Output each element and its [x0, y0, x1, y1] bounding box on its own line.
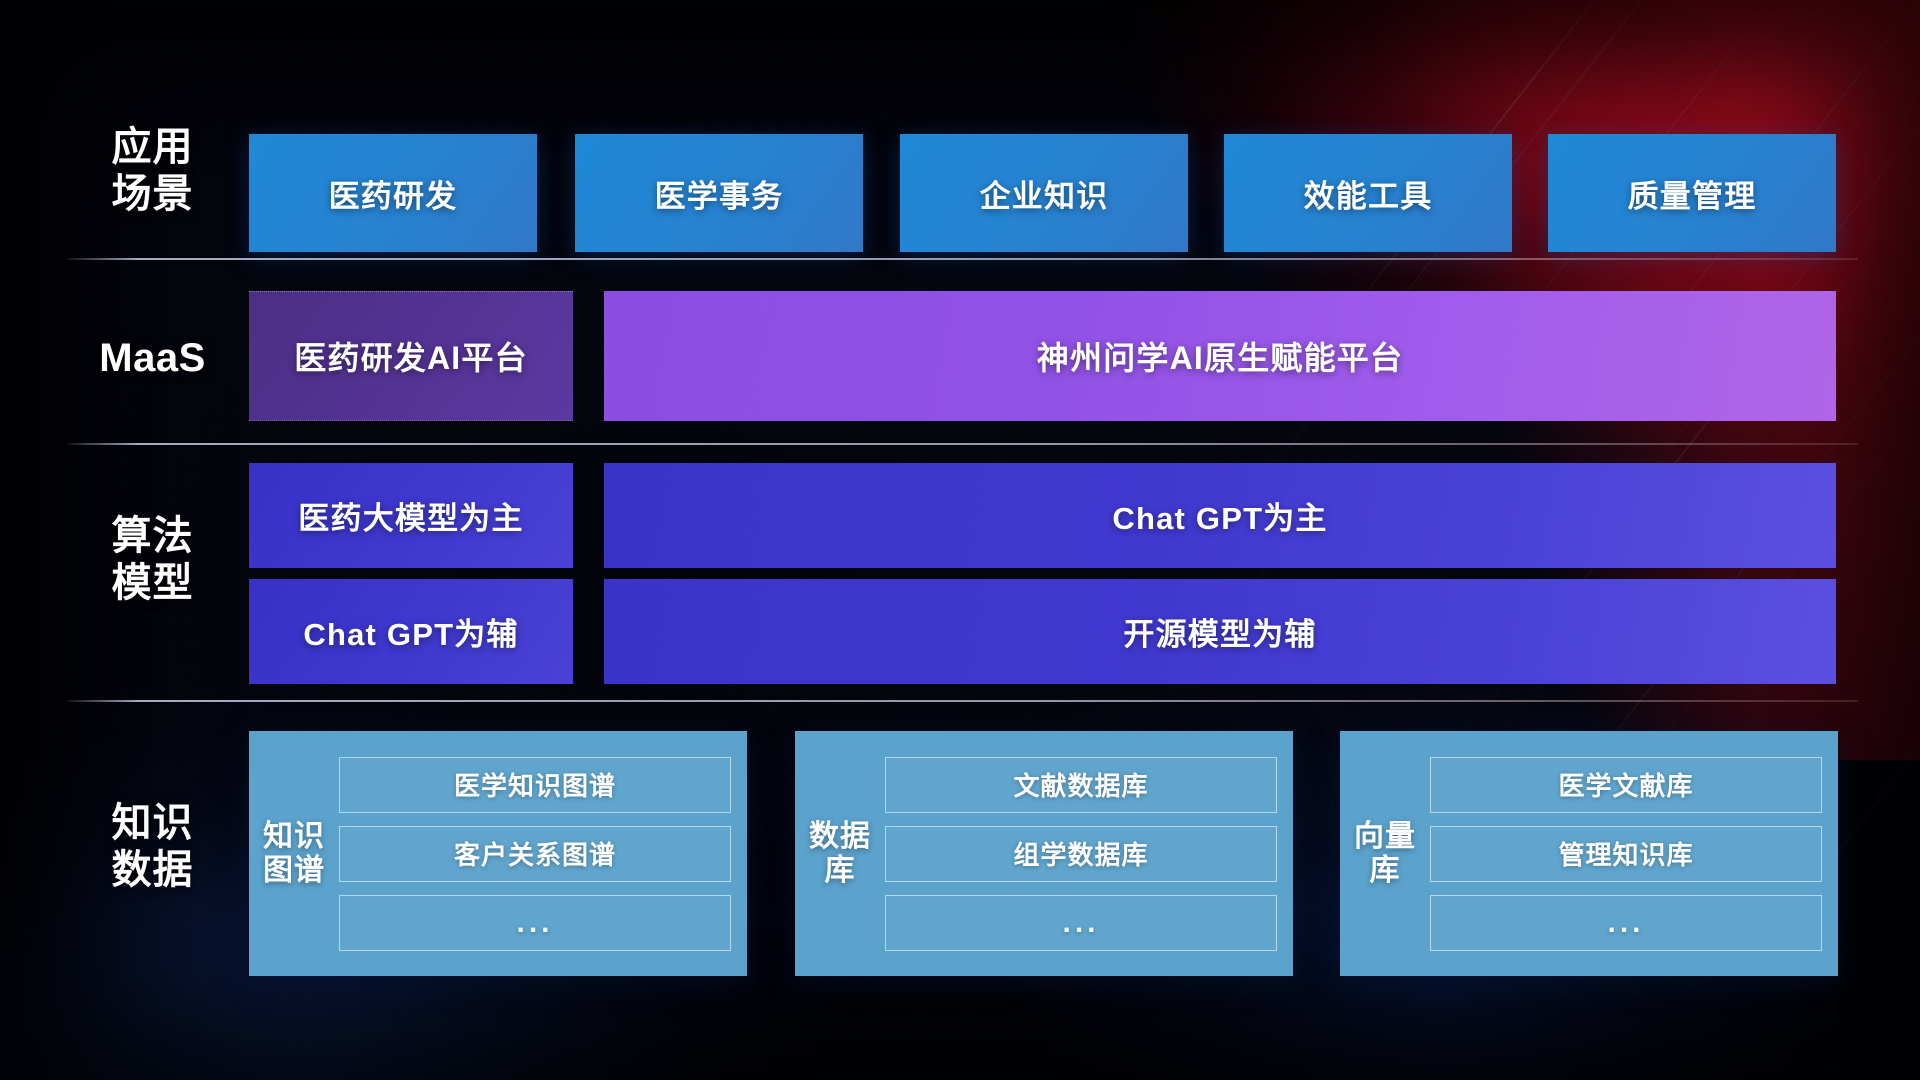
- app-box-label: 企业知识: [980, 171, 1109, 216]
- algo-box-opensource-secondary[interactable]: 开源模型为辅: [604, 579, 1836, 684]
- divider-maas-algorithm: [68, 443, 1858, 445]
- layer-label-application-line1: 应用: [60, 124, 245, 171]
- layer-label-knowledge-line2: 数据: [60, 847, 245, 894]
- algo-box-chatgpt-secondary[interactable]: Chat GPT为辅: [249, 579, 573, 684]
- divider-application-maas: [68, 258, 1858, 260]
- knowledge-item[interactable]: 管理知识库: [1430, 826, 1822, 882]
- algo-box-label: 开源模型为辅: [1123, 609, 1316, 654]
- maas-box-label: 医药研发AI平台: [294, 333, 528, 379]
- algo-box-chatgpt-primary[interactable]: Chat GPT为主: [604, 463, 1836, 568]
- algo-box-label: Chat GPT为主: [1112, 493, 1327, 538]
- knowledge-item-list: 文献数据库 组学数据库 ...: [885, 745, 1277, 962]
- layer-label-application-line2: 场景: [60, 171, 245, 218]
- knowledge-item-more[interactable]: ...: [339, 895, 731, 951]
- layer-label-algorithm-line2: 模型: [60, 560, 245, 607]
- app-box-label: 质量管理: [1628, 171, 1757, 216]
- app-box-medical-affairs[interactable]: 医学事务: [575, 134, 863, 252]
- architecture-diagram: 应用 场景 医药研发 医学事务 企业知识 效能工具 质量管理 MaaS 医药研发…: [0, 0, 1920, 1080]
- layer-label-knowledge-line1: 知识: [60, 800, 245, 847]
- layer-label-algorithm: 算法 模型: [60, 513, 245, 607]
- app-box-quality-management[interactable]: 质量管理: [1548, 134, 1836, 252]
- layer-label-algorithm-line1: 算法: [60, 513, 245, 560]
- maas-box-pharma-ai-platform[interactable]: 医药研发AI平台: [249, 291, 573, 421]
- layer-label-knowledge: 知识 数据: [60, 800, 245, 894]
- knowledge-item-more[interactable]: ...: [885, 895, 1277, 951]
- app-box-enterprise-knowledge[interactable]: 企业知识: [900, 134, 1188, 252]
- knowledge-item[interactable]: 医学知识图谱: [339, 757, 731, 813]
- layer-label-maas-text: MaaS: [60, 335, 245, 382]
- algo-box-label: 医药大模型为主: [298, 493, 523, 538]
- app-box-label: 医学事务: [655, 171, 784, 216]
- knowledge-item[interactable]: 文献数据库: [885, 757, 1277, 813]
- app-box-efficiency-tools[interactable]: 效能工具: [1224, 134, 1512, 252]
- app-box-label: 效能工具: [1304, 171, 1433, 216]
- knowledge-panel-graph[interactable]: 知识图谱 医学知识图谱 客户关系图谱 ...: [249, 731, 747, 976]
- knowledge-panel-title: 数据库: [809, 820, 871, 887]
- app-box-medicine-rd[interactable]: 医药研发: [249, 134, 537, 252]
- algo-box-pharma-model-primary[interactable]: 医药大模型为主: [249, 463, 573, 568]
- layer-label-maas: MaaS: [60, 335, 245, 382]
- knowledge-item-more[interactable]: ...: [1430, 895, 1822, 951]
- knowledge-panel-vector[interactable]: 向量库 医学文献库 管理知识库 ...: [1340, 731, 1838, 976]
- knowledge-item[interactable]: 客户关系图谱: [339, 826, 731, 882]
- maas-box-shenzhou-platform[interactable]: 神州问学AI原生赋能平台: [604, 291, 1836, 421]
- knowledge-panel-title: 向量库: [1354, 820, 1416, 887]
- knowledge-panel-title: 知识图谱: [263, 820, 325, 887]
- knowledge-item-list: 医学文献库 管理知识库 ...: [1430, 745, 1822, 962]
- algo-box-label: Chat GPT为辅: [303, 609, 518, 654]
- layer-label-application: 应用 场景: [60, 124, 245, 218]
- knowledge-item-list: 医学知识图谱 客户关系图谱 ...: [339, 745, 731, 962]
- knowledge-item[interactable]: 组学数据库: [885, 826, 1277, 882]
- divider-algorithm-knowledge: [68, 700, 1858, 702]
- knowledge-panel-database[interactable]: 数据库 文献数据库 组学数据库 ...: [795, 731, 1293, 976]
- app-box-label: 医药研发: [329, 171, 458, 216]
- maas-box-label: 神州问学AI原生赋能平台: [1037, 333, 1403, 379]
- knowledge-item[interactable]: 医学文献库: [1430, 757, 1822, 813]
